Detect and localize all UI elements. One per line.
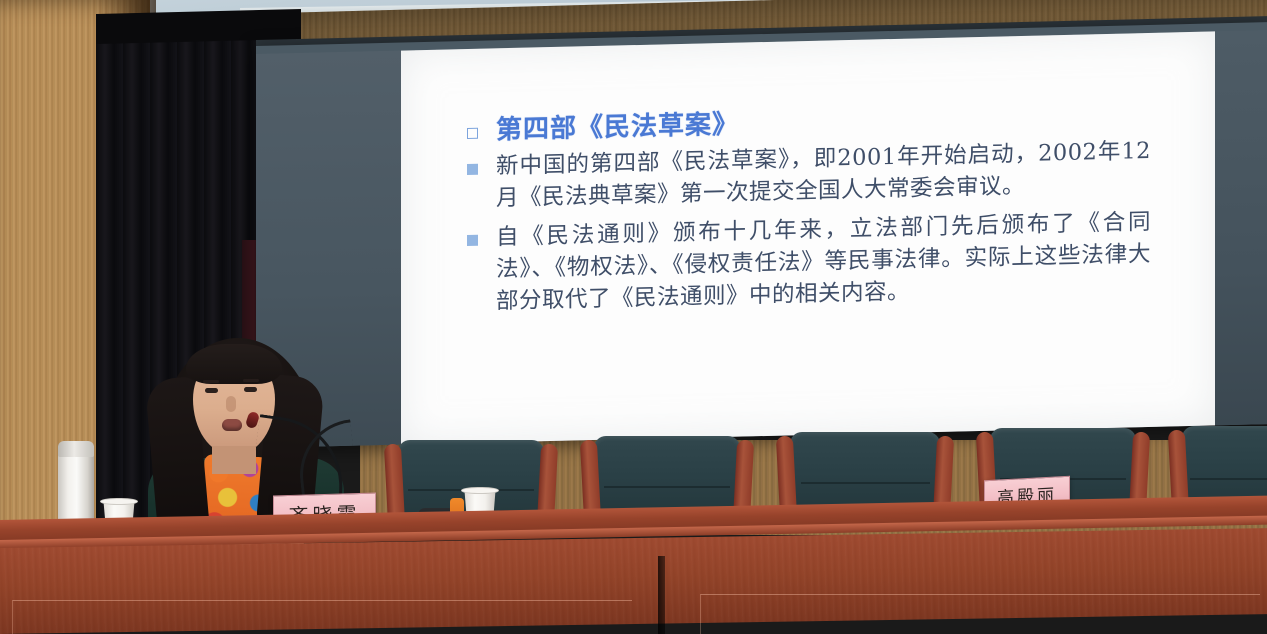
eye-right	[244, 387, 257, 392]
chair-seam	[801, 482, 930, 484]
eye-left	[205, 388, 218, 393]
table-panel-seam	[658, 556, 665, 634]
eyebrow-right	[243, 379, 259, 382]
slide-bullet-text-2: 自《民法通则》颁布十几年来，立法部门先后颁布了《合同法》、《物权法》、《侵权责任…	[496, 207, 1151, 318]
paper-cup-left-rim	[100, 498, 138, 505]
slide-content: 第四部《民法草案》 新中国的第四部《民法草案》，即2001年开始启动，2002年…	[401, 31, 1215, 444]
filled-square-bullet-icon	[467, 235, 478, 246]
conference-room-scene: 第四部《民法草案》 新中国的第四部《民法草案》，即2001年开始启动，2002年…	[0, 0, 1267, 634]
neck	[212, 446, 256, 474]
slide-bullet-text-1: 新中国的第四部《民法草案》，即2001年开始启动，2002年12月《民法典草案》…	[496, 136, 1151, 215]
table-panel-inset-left	[12, 600, 632, 634]
projected-slide-area: 第四部《民法草案》 新中国的第四部《民法草案》，即2001年开始启动，2002年…	[401, 31, 1215, 444]
mouth	[222, 419, 242, 431]
slide-title: 第四部《民法草案》	[496, 111, 739, 147]
table-panel-inset-right	[700, 594, 1260, 634]
slide-bullet-row-1: 新中国的第四部《民法草案》，即2001年开始启动，2002年12月《民法典草案》…	[467, 134, 1207, 215]
nose	[226, 396, 236, 412]
filled-square-bullet-icon	[467, 164, 478, 175]
chair-seam	[604, 486, 730, 488]
thermos-cap	[58, 441, 94, 457]
hollow-square-bullet-icon	[467, 128, 478, 139]
eyebrow-left	[203, 380, 219, 383]
paper-cup-center-rim	[461, 487, 499, 494]
projection-screen: 第四部《民法草案》 新中国的第四部《民法草案》，即2001年开始启动，2002年…	[256, 22, 1267, 448]
screen-unlit-right	[1215, 30, 1267, 425]
slide-bullet-row-2: 自《民法通则》颁布十几年来，立法部门先后颁布了《合同法》、《物权法》、《侵权责任…	[467, 205, 1207, 318]
chair-seam	[1190, 478, 1267, 480]
hair-fringe	[186, 344, 282, 384]
